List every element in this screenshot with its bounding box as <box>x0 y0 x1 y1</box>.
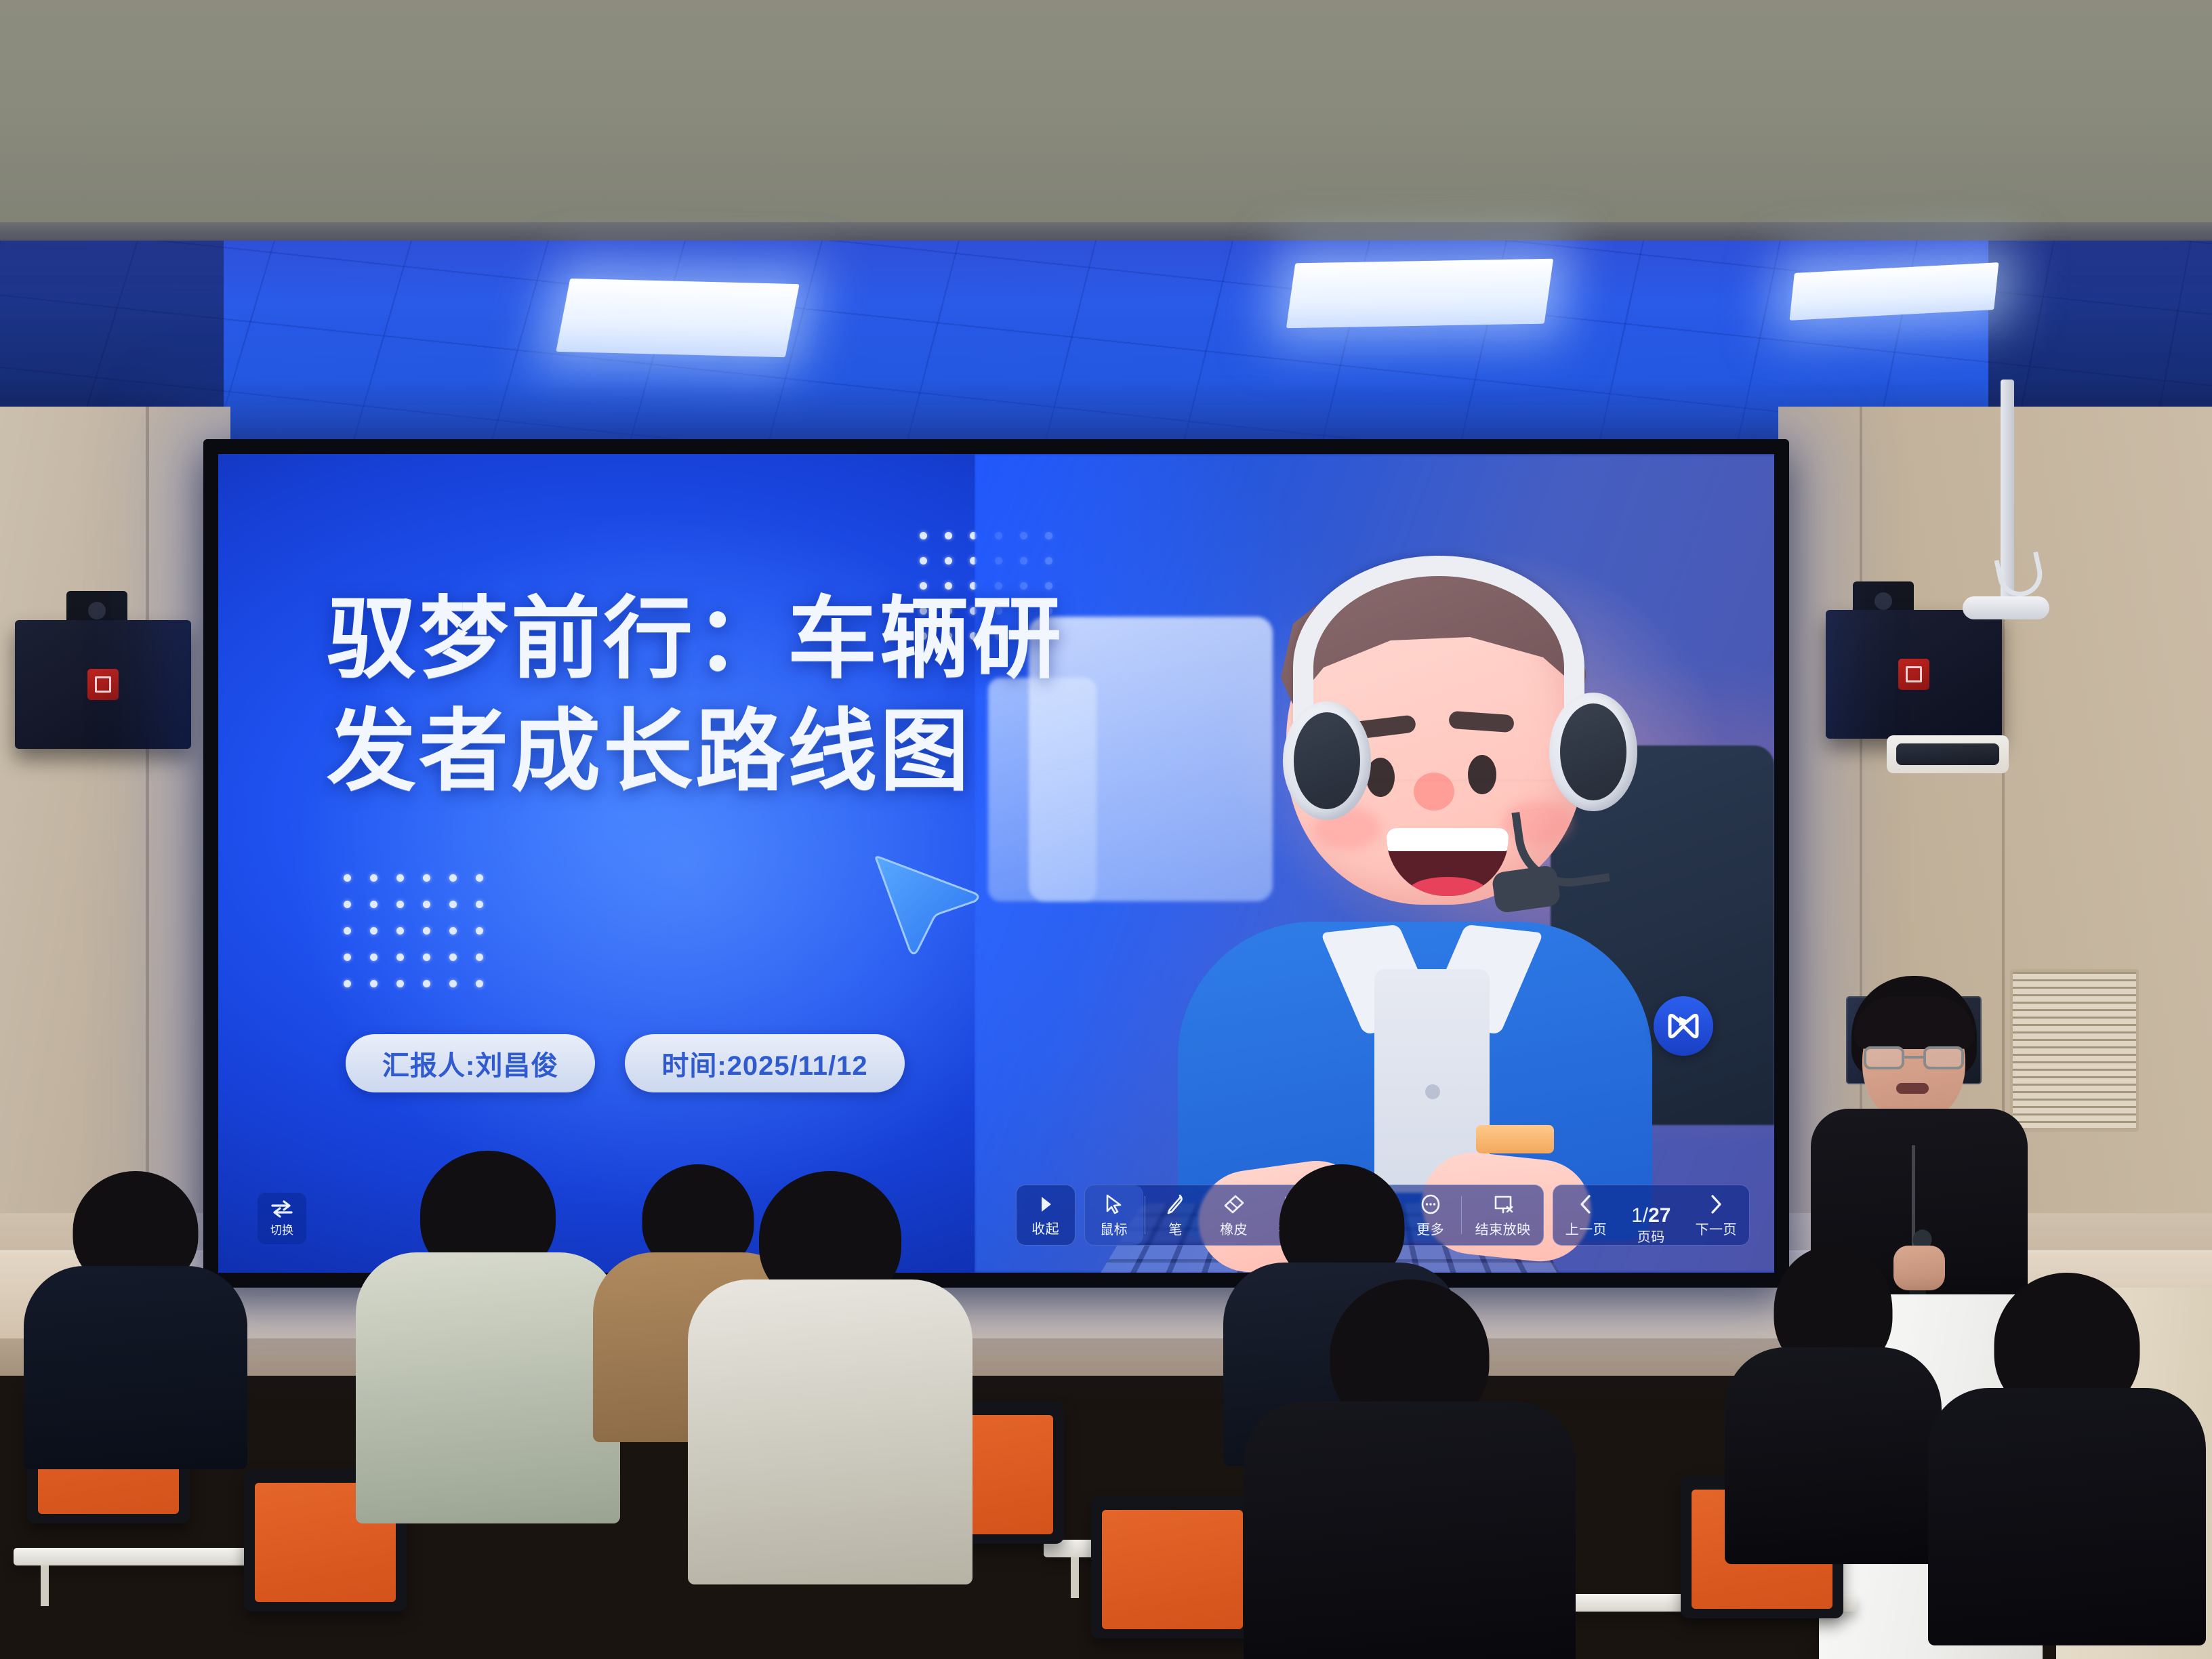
classroom-photo-scene: 驭梦前行：车辆研 发者成长路线图 汇报人:刘昌俊 <box>0 0 2212 1659</box>
ceiling-mount-plate <box>1963 596 2049 619</box>
tool-eraser[interactable]: 橡皮 <box>1205 1185 1263 1245</box>
switch-button[interactable]: 切换 <box>258 1193 306 1244</box>
student-desk <box>14 1548 393 1565</box>
speaker-brand-logo <box>1898 659 1929 690</box>
collapse-button-label: 收起 <box>1031 1218 1059 1237</box>
presenter-mouth <box>1896 1083 1929 1094</box>
tool-eraser-label: 橡皮 <box>1220 1218 1248 1238</box>
upper-wall <box>0 0 2212 251</box>
audience-torso <box>1244 1401 1576 1659</box>
app-logo-icon <box>1666 1012 1701 1040</box>
collapse-button[interactable]: 收起 <box>1017 1185 1075 1245</box>
illustration-shirt-button <box>1425 1084 1440 1099</box>
total-page-number: 27 <box>1648 1204 1671 1227</box>
slide-meta-pills: 汇报人:刘昌俊 时间:2025/11/12 <box>346 1034 905 1092</box>
toolbar-divider <box>1461 1196 1462 1234</box>
student-desk <box>1044 1540 1423 1557</box>
chevron-left-icon <box>1577 1193 1595 1215</box>
presenter-hand <box>1893 1246 1945 1290</box>
presenter-fringe <box>1854 996 1975 1049</box>
next-page-label: 下一页 <box>1696 1218 1738 1238</box>
toolbar-collapse-group[interactable]: 收起 <box>1016 1185 1076 1246</box>
illustration-name-badge <box>1476 1125 1554 1153</box>
audience-chair <box>244 1469 407 1612</box>
tool-pen-label: 笔 <box>1168 1218 1183 1238</box>
slide-title-line-1: 驭梦前行：车辆研 <box>327 583 1208 695</box>
cursor-arrow-icon <box>1104 1193 1124 1215</box>
slide-title-line-2: 发者成长路线图 <box>327 695 1208 808</box>
slide-character-illustration <box>975 454 1774 1273</box>
tool-undo[interactable]: 撤销 <box>1263 1185 1322 1245</box>
audience-chair <box>901 1401 1064 1544</box>
play-triangle-icon <box>1037 1194 1054 1214</box>
audience-chair <box>1091 1496 1254 1639</box>
presentation-screen[interactable]: 驭梦前行：车辆研 发者成长路线图 汇报人:刘昌俊 <box>218 454 1774 1273</box>
tool-undo-label: 撤销 <box>1278 1218 1306 1238</box>
more-dots-circle-icon <box>1420 1193 1441 1215</box>
audience-chair <box>27 1381 190 1523</box>
tool-mouse-label: 鼠标 <box>1100 1218 1128 1238</box>
dot-grid-bottom <box>344 874 483 987</box>
tool-pen[interactable]: 笔 <box>1147 1185 1205 1245</box>
cursor-arrow-decoration <box>869 854 984 956</box>
page-indicator-label: 页码 <box>1637 1226 1665 1246</box>
next-page-button[interactable]: 下一页 <box>1683 1185 1750 1245</box>
headset-earcup-left <box>1283 701 1371 820</box>
mobile-teaching-icon <box>1350 1193 1373 1215</box>
pen-icon <box>1166 1193 1186 1215</box>
tool-more[interactable]: 更多 <box>1401 1185 1460 1245</box>
wall-speaker-left <box>15 620 191 749</box>
speaker-brand-logo <box>87 669 119 700</box>
tool-mobile-teaching[interactable]: 移动授课 <box>1322 1185 1401 1245</box>
podium-brand-tag: 3Crowd <box>2051 1340 2132 1366</box>
ceiling-panel-light <box>556 279 799 357</box>
presenter-pill: 汇报人:刘昌俊 <box>346 1034 595 1092</box>
presenter-jacket-zipper <box>1912 1145 1915 1247</box>
page-indicator[interactable]: 1/27 页码 <box>1619 1185 1683 1245</box>
tool-more-label: 更多 <box>1416 1218 1444 1238</box>
slide-title: 驭梦前行：车辆研 发者成长路线图 <box>327 583 1208 808</box>
eraser-icon <box>1223 1193 1245 1215</box>
interactive-display-bezel: 驭梦前行：车辆研 发者成长路线图 汇报人:刘昌俊 <box>203 439 1789 1288</box>
tool-mouse[interactable]: 鼠标 <box>1085 1185 1143 1245</box>
prev-page-label: 上一页 <box>1565 1218 1607 1238</box>
headset-earcup-right <box>1549 693 1637 811</box>
lectern-podium <box>1819 1294 2043 1659</box>
undo-arrow-icon <box>1282 1193 1303 1215</box>
student-desk <box>1532 1594 1857 1612</box>
app-logo-badge <box>1654 996 1713 1056</box>
toolbar-divider <box>1145 1196 1145 1234</box>
tool-end-show[interactable]: 结束放映 <box>1463 1185 1543 1245</box>
toolbar-tools-group[interactable]: 鼠标 笔 <box>1084 1185 1544 1246</box>
left-wall <box>0 407 230 1220</box>
presentation-toolbar[interactable]: 收起 鼠标 <box>1016 1185 1750 1246</box>
current-page-number: 1 <box>1631 1204 1643 1227</box>
page-separator: / <box>1643 1204 1648 1227</box>
prev-page-button[interactable]: 上一页 <box>1553 1185 1620 1245</box>
camera-bar <box>1887 735 2009 773</box>
tool-mobile-teaching-label: 移动授课 <box>1334 1218 1389 1238</box>
wall-speaker-right <box>1826 610 2002 739</box>
date-pill: 时间:2025/11/12 <box>625 1034 904 1092</box>
swap-arrows-icon <box>270 1200 293 1218</box>
page-number-display: 1/27 <box>1631 1204 1671 1227</box>
tool-end-show-label: 结束放映 <box>1475 1218 1531 1238</box>
toolbar-pager-group[interactable]: 上一页 1/27 页码 下一页 <box>1553 1185 1750 1246</box>
switch-button-label: 切换 <box>270 1221 293 1237</box>
end-show-icon <box>1492 1193 1514 1215</box>
presenter-glasses <box>1864 1046 1964 1069</box>
ceiling-panel-light <box>1286 259 1553 329</box>
chevron-right-icon <box>1707 1193 1725 1215</box>
